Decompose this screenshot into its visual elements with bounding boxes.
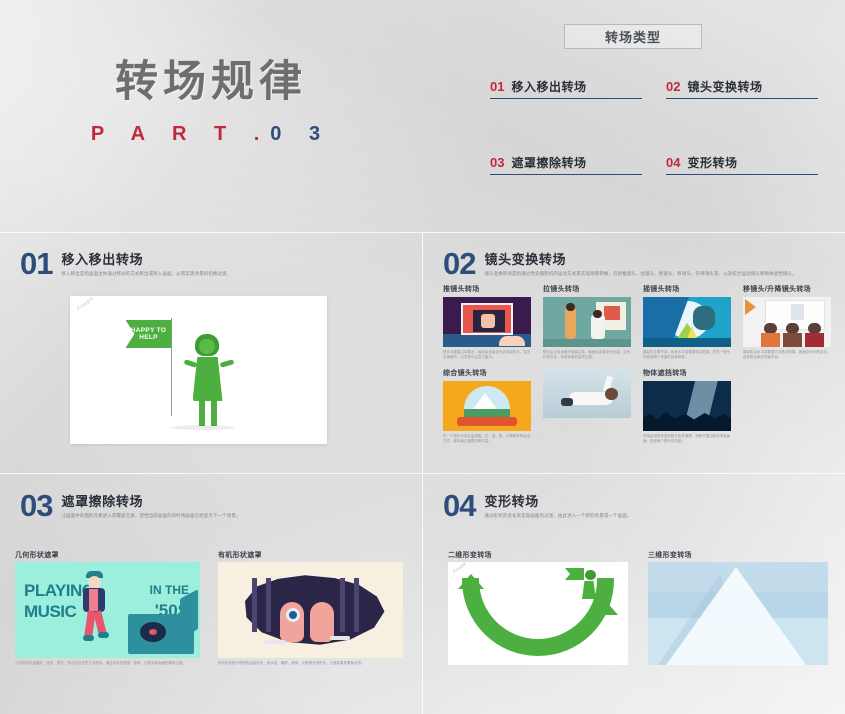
poster-text-line3: IN THE — [150, 583, 189, 597]
figure-shadow — [171, 425, 235, 430]
thumb-caption: 有机形状指不规则的自由形状，如水墨、烟雾、液体、光斑等自然形态，过渡效果更柔和自… — [218, 661, 403, 666]
pyramid-shape — [666, 567, 806, 665]
dancer-figure — [81, 570, 111, 642]
nav-item-label: 移入移出转场 — [511, 78, 586, 95]
record-player-lid — [180, 589, 198, 639]
thumb-caption: 摄影机位置不动，机身水平或垂直转动拍摄，在同一镜头内完成两个场景的衔接转换。 — [643, 350, 731, 360]
thumb-card-geometric-mask[interactable]: 几何形状遮罩 PLAYING MUSIC IN THE '50S 几何形状包括圆… — [15, 544, 200, 666]
section-title: 镜头变换转场 — [484, 252, 796, 268]
thumbnail-image-pull-shot — [543, 297, 631, 347]
thumbnail-image-diving-figure — [543, 368, 631, 418]
nav-item-label: 变形转场 — [687, 154, 737, 171]
section-number: 01 — [20, 250, 52, 279]
thumb-card-3d-morph[interactable]: 三维形变转场 — [648, 544, 828, 665]
thumb-label: 移镜头/升降镜头转场 — [743, 284, 831, 294]
nav-item-number: 01 — [490, 79, 504, 94]
nav-item-underline — [490, 174, 642, 175]
nav-item-underline — [666, 98, 818, 99]
nav-item-03[interactable]: 03 遮罩擦除转场 — [490, 154, 642, 175]
nav-item-label: 遮罩擦除转场 — [511, 154, 586, 171]
arrow-tip-right — [592, 600, 618, 615]
thumbnail-image-move-shot — [743, 297, 831, 347]
section-02-header: 02 镜头变换转场 镜头变换转场是指通过改变摄影机的运动方式来实现场景转换，包括… — [423, 232, 845, 279]
figure-leg-left — [199, 400, 205, 426]
thumb-label: 物体遮挡转场 — [643, 368, 731, 378]
thumbnail-image-2d-morph: Freepik — [448, 562, 628, 665]
part-label-red: P A R T . — [91, 123, 270, 145]
thumbnail-image-organic-mask — [218, 562, 403, 658]
figure-arm-right — [219, 359, 234, 368]
part-subtitle: P A R T .0 3 — [0, 123, 422, 146]
thumbnail-image-pan-shot — [643, 297, 731, 347]
nav-item-01[interactable]: 01 移入移出转场 — [490, 78, 642, 99]
nav-item-04[interactable]: 04 变形转场 — [666, 154, 818, 175]
thumb-label: 有机形状遮罩 — [218, 552, 262, 559]
nav-item-number: 04 — [666, 155, 680, 170]
figure-arm-left — [183, 359, 197, 368]
section-description: 镜头变换转场是指通过改变摄影机的运动方式来实现场景转换，包括推镜头、拉镜头、摇镜… — [484, 271, 796, 277]
nav-item-label: 镜头变换转场 — [687, 78, 762, 95]
page-title: 转场规律 — [0, 58, 422, 107]
thumb-label: 摇镜头转场 — [643, 284, 731, 294]
thumb-card-organic-mask[interactable]: 有机形状遮罩 有机形状指不规则的自由形状，如水墨、烟雾、液体、光斑等自然形态，过… — [218, 544, 403, 666]
thumb-card-2d-morph[interactable]: 二维形变转场 Freepik — [448, 544, 628, 665]
thumb-label: 几何形状遮罩 — [15, 552, 59, 559]
nav-item-underline — [666, 174, 818, 175]
thumbnail-image-object-occlusion — [643, 381, 731, 431]
nav-item-number: 03 — [490, 155, 504, 170]
section-title: 移入移出转场 — [61, 252, 231, 268]
nav-header-box: 转场类型 — [564, 24, 702, 49]
section-description: 移入移出是指画面主体通过移动的方式移出或移入画面，从而实现场景的切换过渡。 — [61, 271, 231, 277]
section-01-illustration: Freepik HAPPY TO HELP — [70, 296, 327, 444]
nav-item-underline — [490, 98, 642, 99]
arrow-tip-left — [458, 574, 484, 589]
thumb-caption: 摄影机沿水平或垂直方向移动拍摄，画面空间不断变化，自然带出新的场景内容。 — [743, 350, 831, 360]
thumb-card-composite[interactable]: 综合镜头转场 在一个镜头中综合运用推、拉、摇、移、升降等多种运动方式，使场景过渡… — [443, 368, 531, 444]
watermark-label: Freepik — [76, 296, 95, 312]
green-figure — [193, 334, 223, 401]
thumbnail-image-3d-morph — [648, 562, 828, 665]
nav-item-number: 02 — [666, 79, 680, 94]
title-block: 转场规律 P A R T .0 3 — [0, 58, 422, 146]
thumb-card-push[interactable]: 推镜头转场 镜头向被摄主体靠近，画面由全景变为近景或特写，突出主体细节，引导观众… — [443, 284, 531, 360]
thumb-label: 三维形变转场 — [648, 552, 692, 559]
thumbnail-image-music-poster: PLAYING MUSIC IN THE '50S — [15, 562, 200, 658]
section-04-header: 04 变形转场 通过形状的变化来实现画面的过渡，由此进入一个新的场景或一个画面。 — [423, 474, 845, 521]
section-title: 变形转场 — [484, 494, 631, 510]
thumb-label: 二维形变转场 — [448, 552, 492, 559]
section-number: 02 — [443, 250, 475, 279]
thumb-label: 拉镜头转场 — [543, 284, 631, 294]
nav-header-label: 转场类型 — [605, 27, 661, 46]
thumb-card-pull[interactable]: 拉镜头转场 镜头由近及远离开被摄主体，画面由近景变为全景，交代环境关系，完成场景… — [543, 284, 631, 360]
section-description: 让画面中的图形元素进入或覆盖全屏，遮挡当前画面的同时将画面已经变为下一个场景。 — [61, 513, 240, 519]
figure-head — [195, 334, 219, 356]
thumb-card-object-blank — [543, 368, 631, 418]
section-description: 通过形状的变化来实现画面的过渡，由此进入一个新的场景或一个画面。 — [484, 513, 631, 519]
thumb-label: 综合镜头转场 — [443, 368, 531, 378]
section-03-header: 03 遮罩擦除转场 让画面中的图形元素进入或覆盖全屏，遮挡当前画面的同时将画面已… — [0, 474, 422, 521]
flag-banner: HAPPY TO HELP — [126, 320, 172, 348]
thumb-card-pan[interactable]: 摇镜头转场 摄影机位置不动，机身水平或垂直转动拍摄，在同一镜头内完成两个场景的衔… — [643, 284, 731, 360]
section-01-header: 01 移入移出转场 移入移出是指画面主体通过移动的方式移出或移入画面，从而实现场… — [0, 232, 422, 279]
thumb-caption: 镜头向被摄主体靠近，画面由全景变为近景或特写，突出主体细节，引导观众注意力集中。 — [443, 350, 531, 360]
thumb-card-occlusion[interactable]: 物体遮挡转场 利用运动物体遮挡镜头形成满屏，再移开露出新的场景画面，完成两个镜头… — [643, 368, 731, 444]
section-number: 04 — [443, 492, 475, 521]
thumb-caption: 利用运动物体遮挡镜头形成满屏，再移开露出新的场景画面，完成两个镜头的衔接。 — [643, 434, 731, 444]
section-number: 03 — [20, 492, 52, 521]
thumbnail-image-composite-shot — [443, 381, 531, 431]
slide-header-area: 转场规律 P A R T .0 3 转场类型 01 移入移出转场 02 镜头变换… — [0, 0, 845, 232]
thumb-caption: 几何形状包括圆形、矩形、菱形、多边形及任意几何图形，通过形状的缩放、旋转、位移实… — [15, 661, 200, 666]
watermark-label: Freepik — [452, 562, 467, 574]
part-label-blue: 0 3 — [270, 123, 331, 145]
thumb-caption: 在一个镜头中综合运用推、拉、摇、移、升降等多种运动方式，使场景过渡更流畅丰富。 — [443, 434, 531, 444]
section-title: 遮罩擦除转场 — [61, 494, 240, 510]
flag-text: HAPPY TO HELP — [126, 327, 172, 342]
nav-item-02[interactable]: 02 镜头变换转场 — [666, 78, 818, 99]
thumb-label: 推镜头转场 — [443, 284, 531, 294]
thumbnail-image-push-shot — [443, 297, 531, 347]
thumb-card-move[interactable]: 移镜头/升降镜头转场 摄影机沿水平或垂直方向移动拍摄，画面空间不断变化，自然带出… — [743, 284, 831, 360]
small-green-figure — [582, 570, 598, 600]
figure-face — [199, 339, 215, 354]
thumb-caption: 镜头由近及远离开被摄主体，画面由近景变为全景，交代环境关系，完成场景的自然过渡。 — [543, 350, 631, 360]
figure-leg-right — [211, 400, 217, 426]
